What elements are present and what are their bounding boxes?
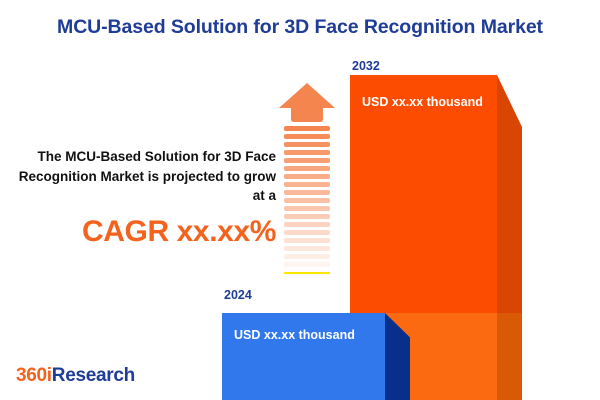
arrow-stripe (284, 238, 330, 243)
arrow-stripe (284, 222, 330, 227)
arrow-stripe (284, 214, 330, 219)
arrow-stripe (284, 262, 330, 267)
infographic-canvas: MCU-Based Solution for 3D Face Recogniti… (0, 0, 600, 400)
arrow-stripe (284, 190, 330, 195)
arrow-stripe (284, 198, 330, 203)
arrow-stripe (284, 230, 330, 235)
arrow-baseline (284, 272, 330, 274)
bar-label-2024: 2024 (224, 288, 252, 302)
cagr-value: CAGR xx.xx% (8, 215, 276, 248)
arrow-shaft-stripes (284, 126, 330, 286)
statement-block: The MCU-Based Solution for 3D Face Recog… (8, 147, 276, 248)
arrow-stripe (284, 158, 330, 163)
arrow-stripe (284, 254, 330, 259)
arrow-head-icon (278, 82, 336, 124)
arrow-stripe (284, 246, 330, 251)
arrow-stripe (284, 182, 330, 187)
arrow-stripe (284, 134, 330, 139)
arrow-stripe (284, 142, 330, 147)
arrow-stripe (284, 126, 330, 131)
arrow-stripe (284, 174, 330, 179)
statement-text: The MCU-Based Solution for 3D Face Recog… (8, 147, 276, 206)
up-arrow-icon (278, 82, 336, 287)
logo-text-orange: 360i (16, 365, 52, 386)
bar-value-2032: USD xx.xx thousand (362, 95, 483, 109)
arrow-stripe (284, 166, 330, 171)
logo-text-navy: Research (52, 365, 135, 386)
bar-2032-side-face-lower (497, 313, 522, 400)
bar-label-2032: 2032 (352, 59, 380, 73)
page-title: MCU-Based Solution for 3D Face Recogniti… (0, 16, 600, 39)
brand-logo: 360iResearch (16, 365, 135, 387)
arrow-stripe (284, 278, 330, 283)
bar-value-2024: USD xx.xx thousand (234, 328, 355, 342)
arrow-stripe (284, 150, 330, 155)
arrow-stripe (284, 206, 330, 211)
bar-2024-front-face (222, 313, 385, 400)
